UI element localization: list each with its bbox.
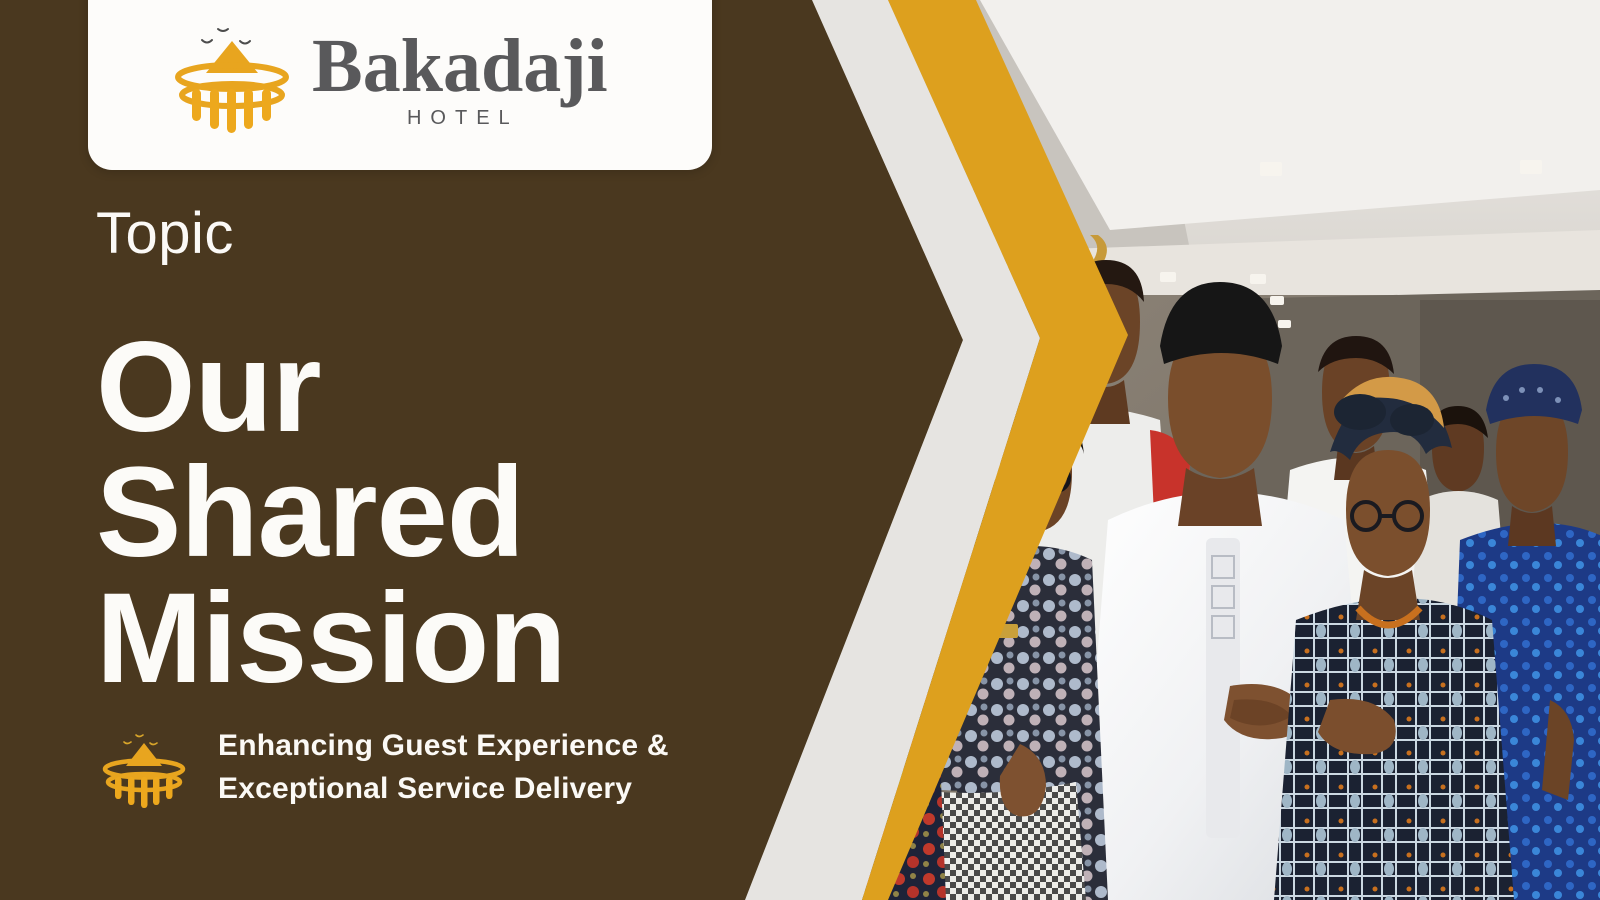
brand-wordmark: Bakadaji HOTEL	[312, 30, 608, 130]
group-photo	[860, 0, 1600, 900]
brand-subtitle: HOTEL	[312, 107, 608, 130]
slide-subtitle: Enhancing Guest Experience & Exceptional…	[218, 725, 688, 810]
topic-label: Topic	[96, 200, 234, 267]
page-title: Our Shared Mission	[96, 325, 826, 701]
gazebo-roundhouse-icon	[166, 19, 298, 139]
presentation-slide: Bakadaji HOTEL Topic Our Shared Mission	[0, 0, 1600, 900]
slide-footer: Enhancing Guest Experience & Exceptional…	[96, 725, 688, 811]
brand-logo-card: Bakadaji HOTEL	[88, 0, 712, 170]
brand-name: Bakadaji	[312, 30, 608, 103]
gazebo-roundhouse-icon	[96, 729, 192, 811]
